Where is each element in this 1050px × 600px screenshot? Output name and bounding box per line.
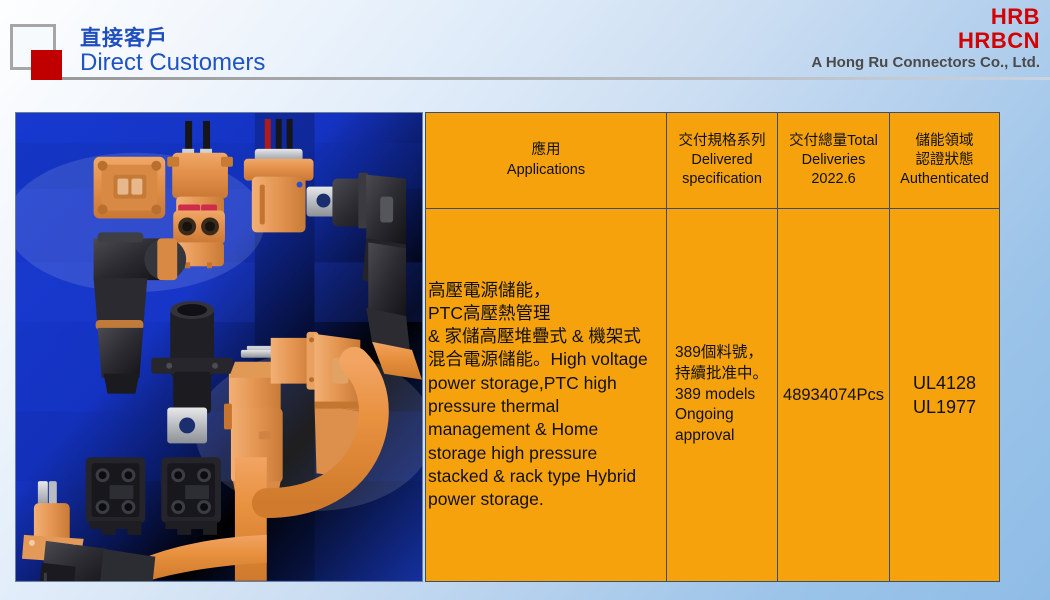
applications-line: pressure thermal bbox=[428, 395, 662, 418]
header-divider bbox=[62, 77, 1050, 80]
product-photo bbox=[15, 112, 423, 582]
applications-line: 高壓電源儲能， bbox=[428, 279, 662, 302]
slide-header: 直接客戶 Direct Customers HRB HRBCN A Hong R… bbox=[0, 0, 1050, 86]
column-header-authenticated: 儲能領域 認證狀態 Authenticated bbox=[889, 113, 999, 208]
product-photo-illustration bbox=[16, 113, 422, 581]
total-deliveries-value: 48934074Pcs bbox=[782, 386, 885, 405]
certification-code: UL4128 bbox=[894, 371, 995, 395]
column-header-applications-zh: 應用 bbox=[430, 141, 662, 160]
cell-applications: 高壓電源儲能， PTC高壓熱管理 & 家儲高壓堆疊式 & 機架式 混合電源儲能。… bbox=[426, 209, 666, 581]
applications-line: storage high pressure bbox=[428, 442, 662, 465]
column-header-delivered-specification: 交付規格系列 Delivered specification bbox=[666, 113, 777, 208]
applications-line: stacked & rack type Hybrid bbox=[428, 465, 662, 488]
column-header-spec-en1: Delivered bbox=[671, 151, 773, 170]
brand-name-hrbcn: HRBCN bbox=[958, 28, 1040, 54]
cell-total-deliveries: 48934074Pcs bbox=[777, 209, 889, 581]
column-header-applications: 應用 Applications bbox=[426, 113, 666, 208]
cell-authenticated: UL4128 UL1977 bbox=[889, 209, 999, 581]
applications-line: power storage. bbox=[428, 488, 662, 511]
brand-name-hrb: HRB bbox=[991, 4, 1040, 30]
column-header-auth-zh1: 儲能領域 bbox=[894, 132, 995, 151]
applications-line: PTC高壓熱管理 bbox=[428, 302, 662, 325]
column-header-total-date: 2022.6 bbox=[782, 170, 885, 189]
spec-line: approval bbox=[675, 426, 773, 447]
column-header-spec-zh: 交付規格系列 bbox=[671, 132, 773, 151]
column-header-total-en: Deliveries bbox=[782, 151, 885, 170]
column-header-total-zh: 交付總量Total bbox=[782, 132, 885, 151]
column-header-auth-en: Authenticated bbox=[894, 170, 995, 189]
slide: 直接客戶 Direct Customers HRB HRBCN A Hong R… bbox=[0, 0, 1050, 600]
applications-line: & 家儲高壓堆疊式 & 機架式 bbox=[428, 325, 662, 348]
column-header-auth-zh2: 認證狀態 bbox=[894, 151, 995, 170]
company-legal-name: A Hong Ru Connectors Co., Ltd. bbox=[811, 54, 1040, 71]
spec-line: 389 models bbox=[675, 385, 773, 406]
column-header-total-deliveries: 交付總量Total Deliveries 2022.6 bbox=[777, 113, 889, 208]
page-title-english: Direct Customers bbox=[80, 49, 265, 77]
spec-line: 持續批准中。 bbox=[675, 364, 773, 385]
applications-line: power storage,PTC high bbox=[428, 372, 662, 395]
column-header-applications-en: Applications bbox=[430, 161, 662, 180]
table-row: 高壓電源儲能， PTC高壓熱管理 & 家儲高壓堆疊式 & 機架式 混合電源儲能。… bbox=[426, 209, 999, 581]
table-header-row: 應用 Applications 交付規格系列 Delivered specifi… bbox=[426, 113, 999, 209]
logo-red-square-icon bbox=[31, 50, 62, 80]
certification-code: UL1977 bbox=[894, 395, 995, 419]
applications-line: 混合電源儲能。High voltage bbox=[428, 348, 662, 371]
cell-delivered-specification: 389個料號， 持續批准中。 389 models Ongoing approv… bbox=[666, 209, 777, 581]
applications-line: management & Home bbox=[428, 418, 662, 441]
column-header-spec-en2: specification bbox=[671, 170, 773, 189]
page-title-chinese: 直接客戶 bbox=[80, 22, 168, 52]
spec-line: 389個料號， bbox=[675, 343, 773, 364]
spec-line: Ongoing bbox=[675, 405, 773, 426]
products-table: 應用 Applications 交付規格系列 Delivered specifi… bbox=[425, 112, 1000, 582]
